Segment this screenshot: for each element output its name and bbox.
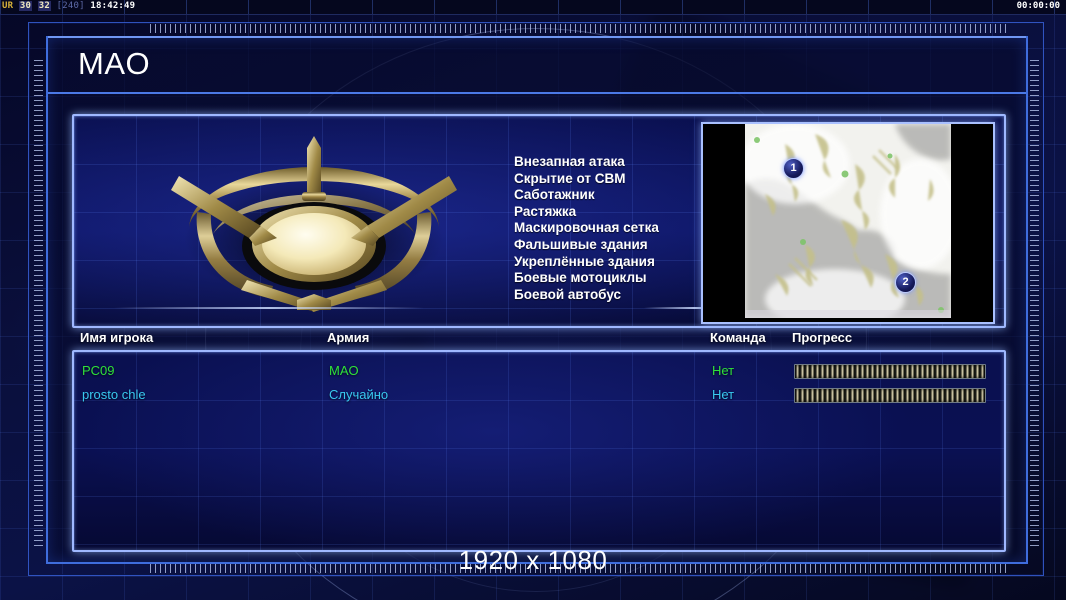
faction-info-panel: Внезапная атака Скрытие от СВМ Саботажни… (72, 114, 1006, 328)
feature-item: Маскировочная сетка (514, 220, 659, 237)
status-bar-grid (0, 0, 1066, 14)
status-bar: UR 30 32 [240] 18:42:49 00:00:00 (0, 0, 1066, 15)
frame-value: 32 (38, 1, 51, 11)
player-table-header: Имя игрока Армия Команда Прогресс (72, 330, 1002, 350)
feature-item: Саботажник (514, 187, 659, 204)
fps-value: 30 (19, 1, 32, 11)
column-header-progress: Прогресс (792, 330, 852, 345)
panel-underline-left (114, 307, 424, 309)
player-army[interactable]: MAO (329, 363, 359, 378)
feature-item: Фальшивые здания (514, 237, 659, 254)
game-lobby-screen: UR 30 32 [240] 18:42:49 00:00:00 MAO (0, 0, 1066, 600)
bracket-value: [240] (57, 1, 85, 11)
feature-item: Растяжка (514, 204, 659, 221)
column-header-army: Армия (327, 330, 369, 345)
clock-readout: 00:00:00 (1017, 1, 1060, 12)
player-progress-bar (794, 364, 986, 379)
map-preview[interactable]: 1 2 (701, 122, 995, 324)
feature-item: Боевые мотоциклы (514, 270, 659, 287)
feature-item: Укреплённые здания (514, 254, 659, 271)
resolution-label: 1920 x 1080 (0, 545, 1066, 576)
player-table-panel: PC09 MAO Нет prosto chle Случайно Нет (72, 350, 1006, 552)
session-time: 18:42:49 (90, 1, 135, 11)
map-start-marker: 2 (895, 272, 916, 293)
map-letterbox: 1 2 (703, 124, 993, 322)
map-start-marker: 1 (783, 158, 804, 179)
table-row[interactable]: PC09 MAO Нет (74, 360, 1004, 384)
player-team[interactable]: Нет (712, 363, 734, 378)
mao-faction-emblem (169, 134, 459, 314)
window-titlebar: MAO (48, 38, 1026, 94)
feature-item: Внезапная атака (514, 154, 659, 171)
feature-item: Боевой автобус (514, 287, 659, 304)
player-name: prosto chle (82, 387, 146, 402)
player-name: PC09 (82, 363, 115, 378)
column-header-team: Команда (710, 330, 766, 345)
player-army[interactable]: Случайно (329, 387, 388, 402)
fps-counter: UR 30 32 [240] 18:42:49 (2, 1, 135, 12)
player-team[interactable]: Нет (712, 387, 734, 402)
page-title: MAO (78, 46, 150, 82)
column-header-name: Имя игрока (80, 330, 153, 345)
player-progress-bar (794, 388, 986, 403)
feature-item: Скрытие от СВМ (514, 171, 659, 188)
faction-feature-list: Внезапная атака Скрытие от СВМ Саботажни… (514, 154, 659, 303)
fps-label: UR (2, 1, 13, 11)
lobby-window: MAO (46, 36, 1028, 564)
titlebar-highlight (48, 36, 1026, 38)
table-row[interactable]: prosto chle Случайно Нет (74, 384, 1004, 408)
map-terrain (745, 124, 951, 322)
